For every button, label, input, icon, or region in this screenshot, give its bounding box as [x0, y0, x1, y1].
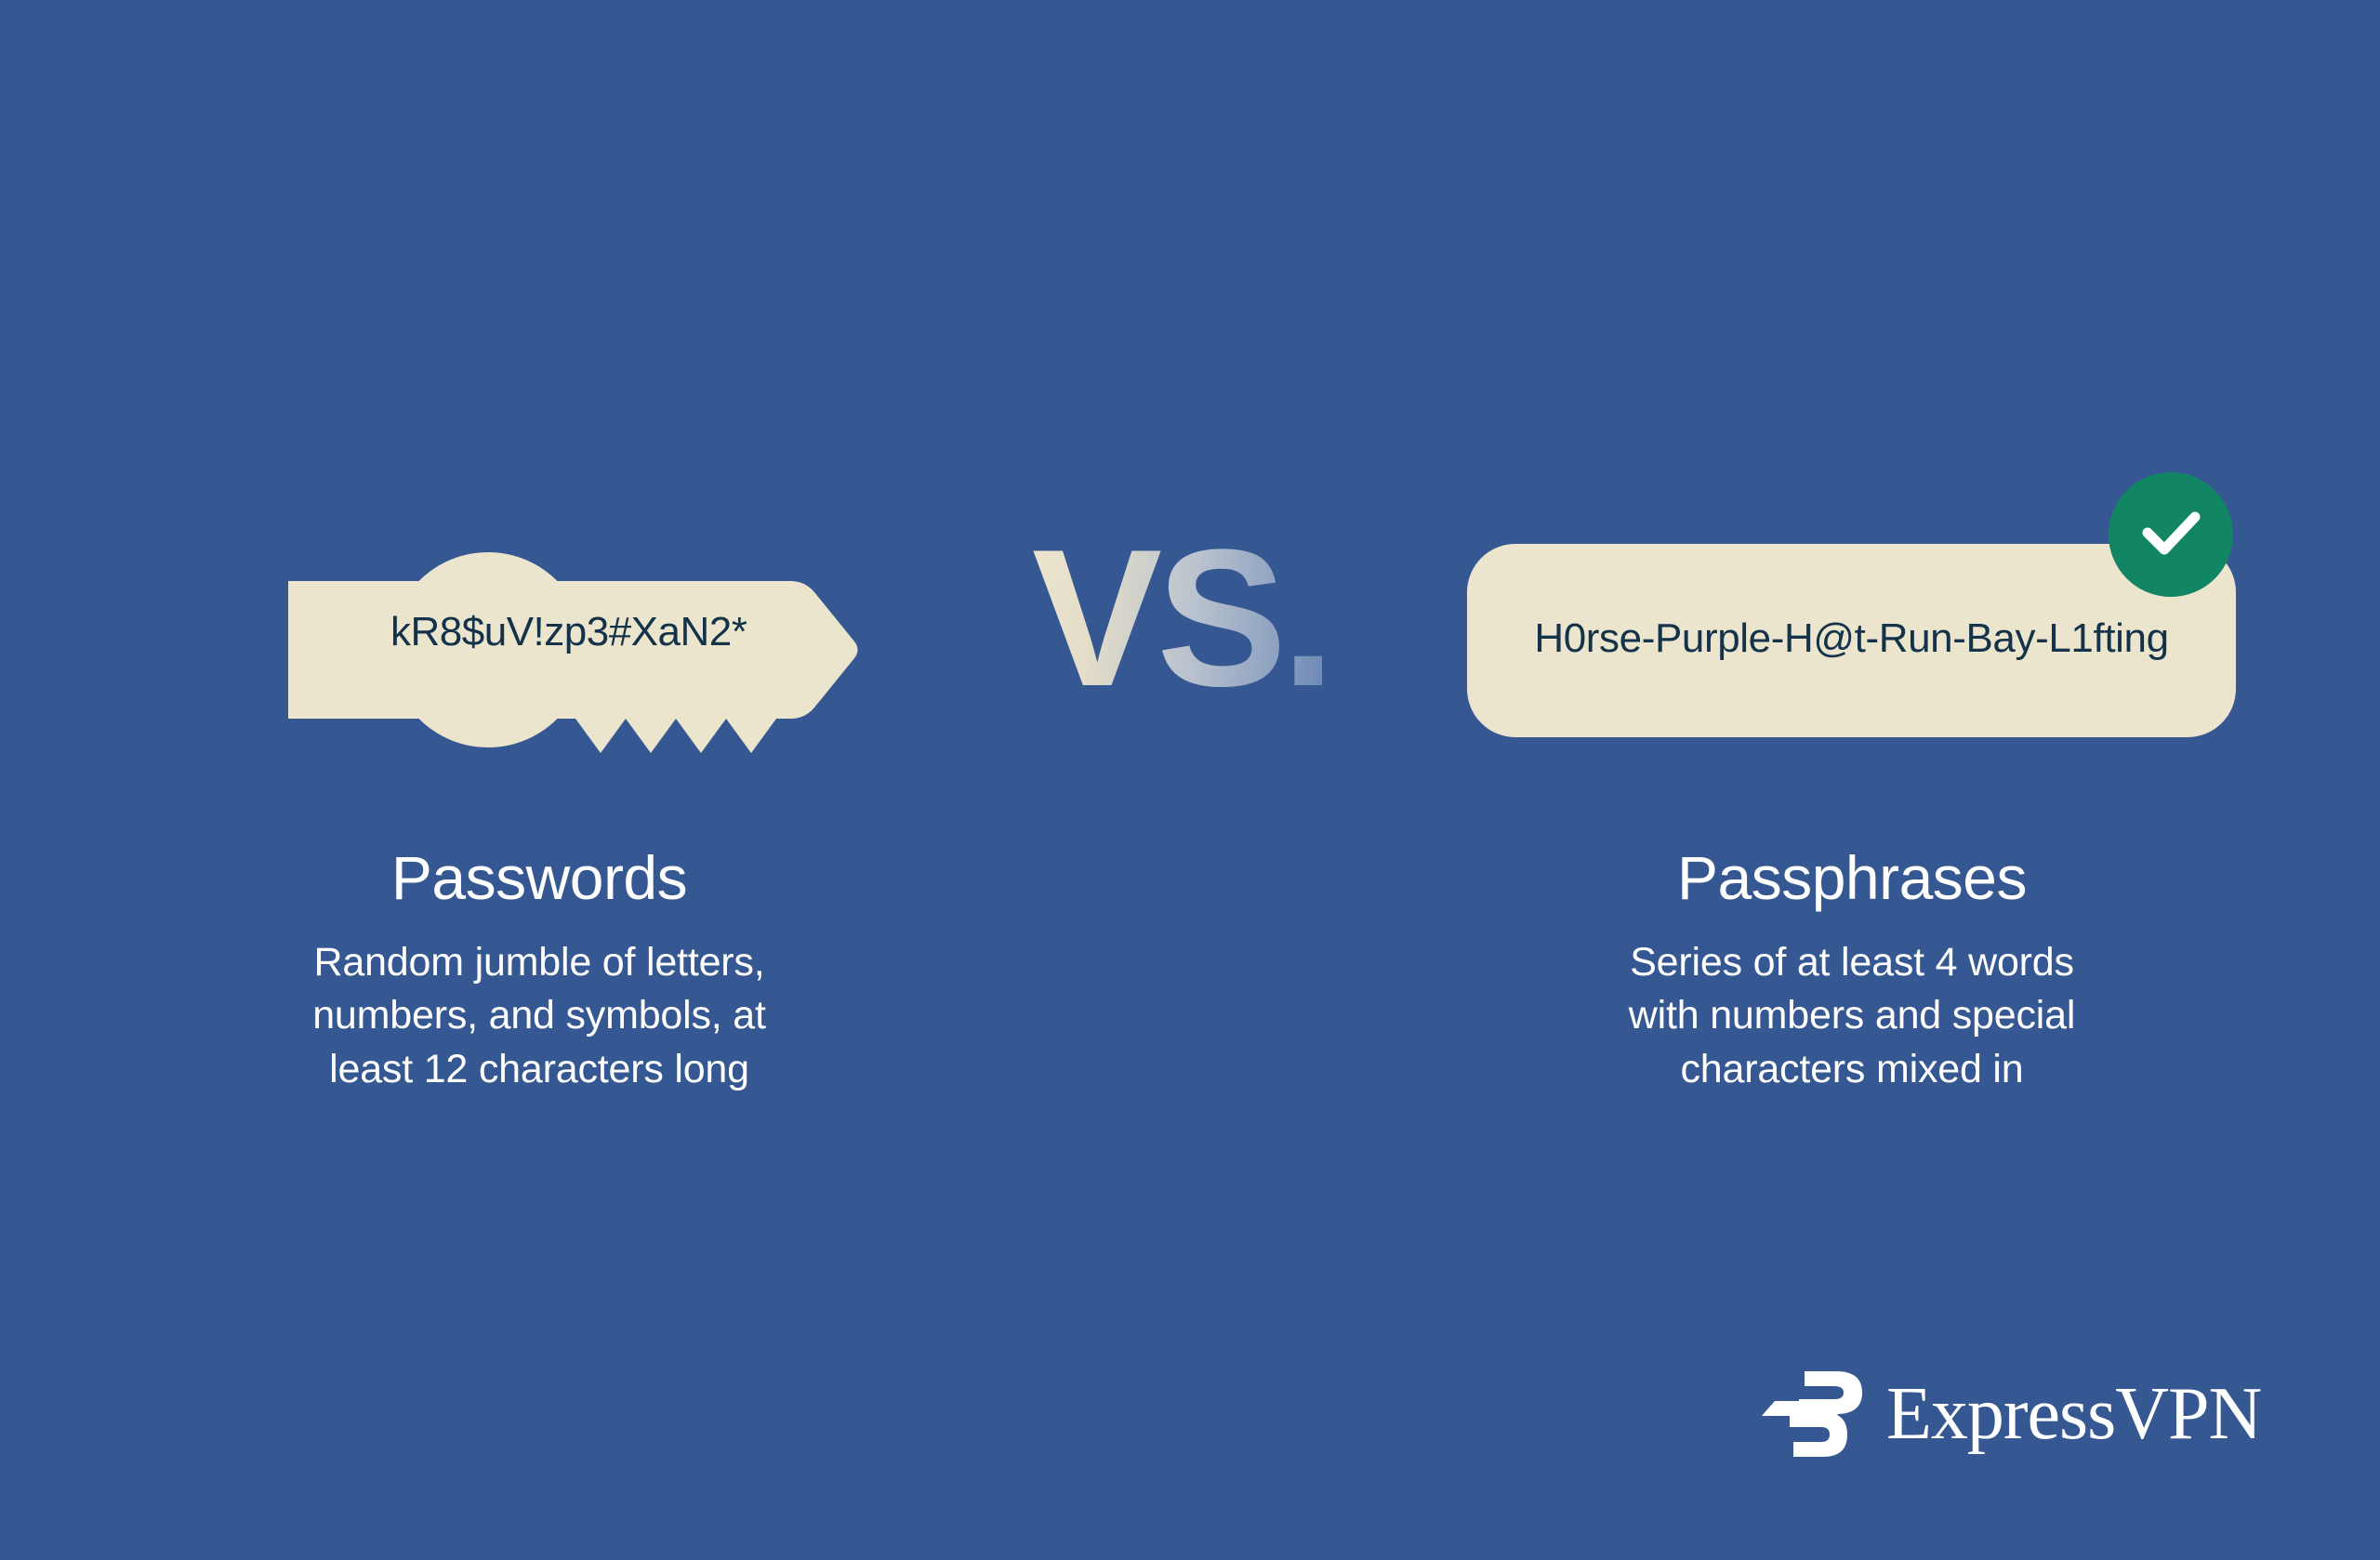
passwords-description: Random jumble of letters, numbers, and s… [205, 936, 874, 1096]
brand-wordmark: ExpressVPN [1886, 1377, 2261, 1451]
passphrase-sample-value: H0rse-Purple-H@t-Run-Bay-L1fting [1467, 615, 2236, 662]
passwords-description-line: least 12 characters long [205, 1043, 874, 1096]
passphrases-description: Series of at least 4 words with numbers … [1517, 936, 2187, 1096]
passphrase-card: H0rse-Purple-H@t-Run-Bay-L1fting [1467, 544, 2236, 737]
passwords-heading: Passwords [205, 846, 874, 910]
passwords-description-line: numbers, and symbols, at [205, 989, 874, 1042]
passphrases-description-line: with numbers and special [1517, 989, 2187, 1042]
passphrases-heading: Passphrases [1517, 846, 2187, 910]
passphrases-description-line: characters mixed in [1517, 1043, 2187, 1096]
password-sample-value: kR8$uV!zp3#XaN2* [390, 609, 827, 655]
check-icon [2109, 472, 2233, 597]
expressvpn-e-icon [1762, 1369, 1866, 1459]
infographic-canvas: kR8$uV!zp3#XaN2* VS. H0rse-Purple-H@t-Ru… [0, 0, 2380, 1560]
versus-label: VS. [1032, 521, 1385, 716]
brand-logo: ExpressVPN [1762, 1359, 2261, 1469]
passwords-description-line: Random jumble of letters, [205, 936, 874, 989]
passwords-column: Passwords Random jumble of letters, numb… [205, 846, 874, 1096]
passphrases-column: Passphrases Series of at least 4 words w… [1517, 846, 2187, 1096]
passphrases-description-line: Series of at least 4 words [1517, 936, 2187, 989]
